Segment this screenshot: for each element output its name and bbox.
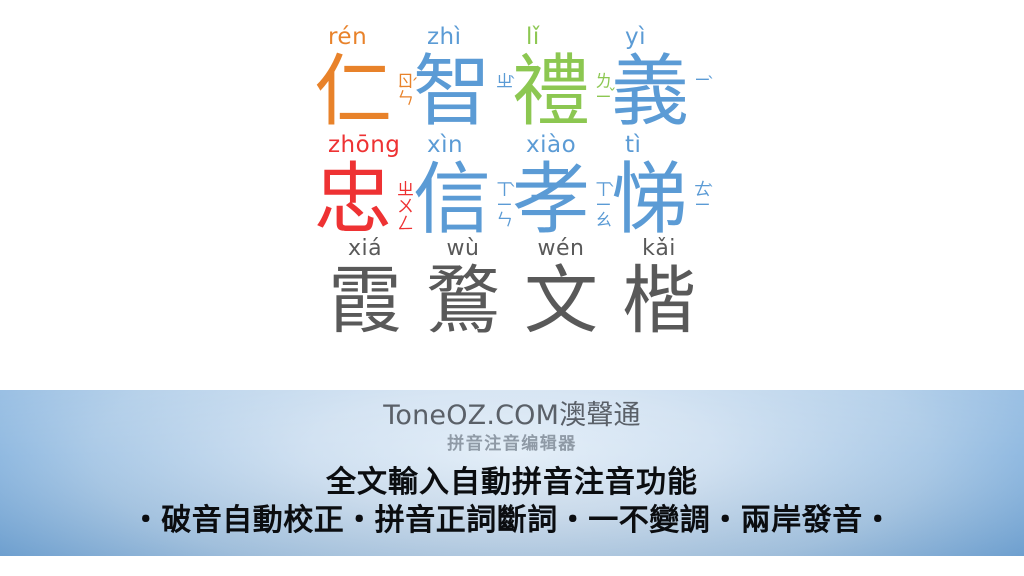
hanzi-xiao: 孝 [512, 158, 590, 242]
zhuyin-ti: ㄊㄧ ˋ [690, 180, 710, 211]
brand-title: ToneOZ.COM澳聲通 [383, 400, 640, 432]
character-unit-ti: tì 悌 ㄊㄧ ˋ [611, 132, 710, 242]
character-unit-wu: wù 鶩 [426, 236, 500, 340]
character-unit-zhi: zhì 智 ㄓ ˋ [413, 24, 512, 134]
glyphline-zhi: 智 ㄓ ˋ [413, 50, 512, 134]
zhuyin-li: ㄌㄧ ˇ [591, 72, 611, 103]
zhuyin-letters-zhong: ㄓㄨㄥ [394, 180, 412, 231]
headline-text: 全文輸入自動拼音注音功能 [326, 465, 698, 501]
glyphline-zhong: 忠 ㄓㄨㄥ [314, 158, 413, 242]
character-unit-kai: kǎi 楷 [622, 236, 696, 340]
character-showcase: rén 仁 ㄖㄣ ˊ zhì 智 ㄓ ˋ [0, 0, 1024, 390]
character-row-virtues-2: zhōng 忠 ㄓㄨㄥ xìn 信 ㄒㄧㄣ ˋ [314, 132, 710, 242]
zhuyin-xiao: ㄒㄧㄠ ˋ [591, 180, 611, 228]
glyphline-ren: 仁 ㄖㄣ ˊ [314, 50, 413, 134]
hanzi-kai: 楷 [622, 262, 696, 340]
hanzi-ti: 悌 [611, 158, 689, 242]
tone-mark-ti: ˋ [707, 184, 716, 201]
zhuyin-xin: ㄒㄧㄣ ˋ [492, 180, 512, 228]
hanzi-ren: 仁 [314, 50, 392, 134]
character-unit-xiao: xiào 孝 ㄒㄧㄠ ˋ [512, 132, 611, 242]
character-row-fontname: xiá 霞 wù 鶩 wén 文 kǎi 楷 [316, 236, 708, 340]
glyphline-xiao: 孝 ㄒㄧㄠ ˋ [512, 158, 611, 242]
hanzi-wen: 文 [524, 262, 598, 340]
hanzi-xia: 霞 [328, 262, 402, 340]
character-unit-zhong: zhōng 忠 ㄓㄨㄥ [314, 132, 413, 242]
character-unit-yi: yì 義 ㄧ ˋ [611, 24, 710, 134]
character-row-virtues-1: rén 仁 ㄖㄣ ˊ zhì 智 ㄓ ˋ [314, 24, 710, 134]
zhuyin-yi: ㄧ ˋ [690, 72, 710, 86]
hanzi-li: 禮 [512, 50, 590, 134]
features-text: ・破音自動校正・拼音正詞斷詞・一不變調・兩岸發音・ [131, 503, 894, 539]
glyphline-yi: 義 ㄧ ˋ [611, 50, 710, 134]
character-unit-xin: xìn 信 ㄒㄧㄣ ˋ [413, 132, 512, 242]
character-unit-wen: wén 文 [524, 236, 598, 340]
hanzi-zhi: 智 [413, 50, 491, 134]
zhuyin-ren: ㄖㄣ ˊ [393, 72, 413, 106]
zhuyin-zhi: ㄓ ˋ [492, 72, 512, 89]
brand-subtitle: 拼音注音编辑器 [447, 433, 577, 455]
hanzi-xin: 信 [413, 158, 491, 242]
poster-root: rén 仁 ㄖㄣ ˊ zhì 智 ㄓ ˋ [0, 0, 1024, 576]
character-unit-li: lǐ 禮 ㄌㄧ ˇ [512, 24, 611, 134]
glyphline-li: 禮 ㄌㄧ ˇ [512, 50, 611, 134]
hanzi-yi: 義 [611, 50, 689, 134]
tone-mark-yi: ˋ [707, 76, 716, 93]
zhuyin-zhong: ㄓㄨㄥ [393, 180, 413, 231]
hanzi-zhong: 忠 [314, 158, 392, 242]
glyphline-xin: 信 ㄒㄧㄣ ˋ [413, 158, 512, 242]
hanzi-wu: 鶩 [426, 262, 500, 340]
character-unit-ren: rén 仁 ㄖㄣ ˊ [314, 24, 413, 134]
bottom-banner: ToneOZ.COM澳聲通 拼音注音编辑器 全文輸入自動拼音注音功能 ・破音自動… [0, 390, 1024, 556]
glyphline-ti: 悌 ㄊㄧ ˋ [611, 158, 710, 242]
character-unit-xia: xiá 霞 [328, 236, 402, 340]
